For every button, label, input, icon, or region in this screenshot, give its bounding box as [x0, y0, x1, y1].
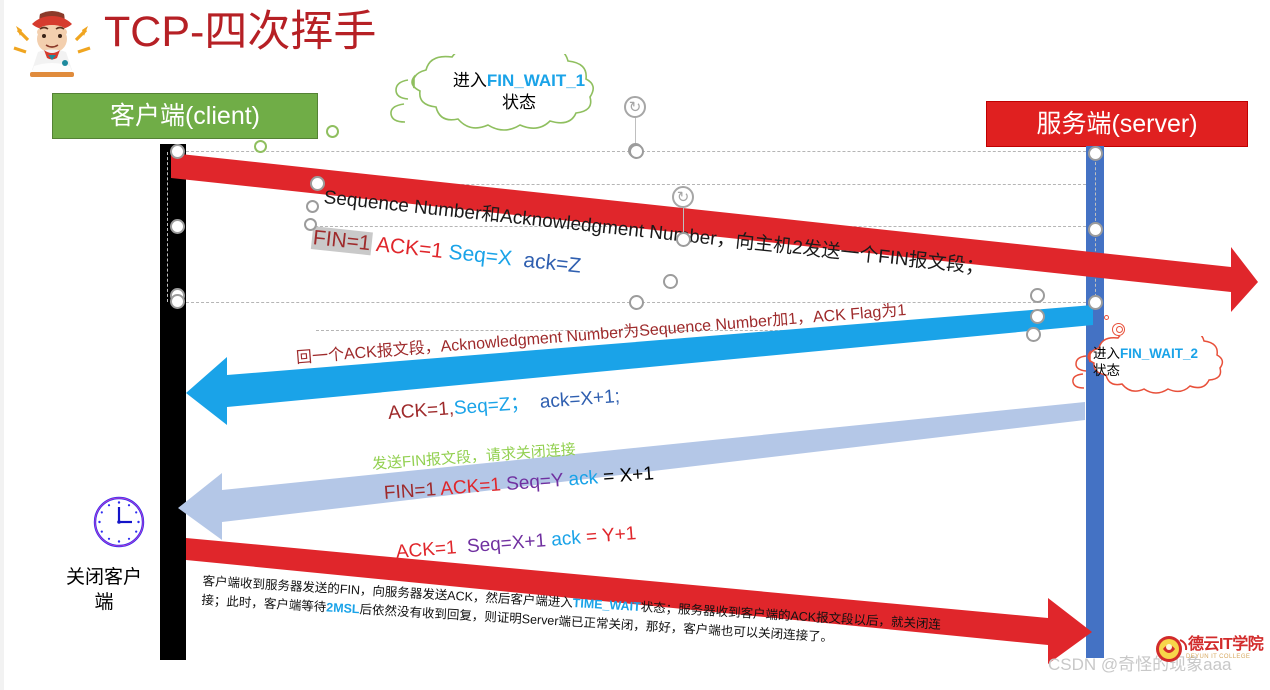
- selection-handle-guide-extra[interactable]: [663, 274, 678, 289]
- rotation-handle-msg1[interactable]: ↻: [672, 186, 694, 208]
- msg2-flag-acknum: ack=X+1;: [539, 386, 621, 413]
- msg4-flag-ack-key: ack: [550, 527, 581, 550]
- msg4-paragraph-state-2msl: 2MSL: [326, 600, 360, 616]
- brand-logo-text: 德云IT学院: [1188, 636, 1263, 654]
- selection-handle-client-top[interactable]: [170, 144, 185, 159]
- msg3-flag-seq: Seq=Y: [505, 470, 564, 495]
- selection-handle-msg1-mid[interactable]: [306, 200, 319, 213]
- clock-icon: [92, 495, 146, 549]
- selection-handle-msg1-anchor[interactable]: [676, 232, 691, 247]
- msg1-flag-acknum: ack=Z: [522, 249, 582, 278]
- brand-logo-subtext: DEYUN IT COLLEGE: [1186, 653, 1250, 661]
- selection-handle-server-mid[interactable]: [1088, 295, 1103, 310]
- selection-handle-cloud2-a[interactable]: [1104, 315, 1109, 320]
- cloud-fin-wait-2-text: 进入FIN_WAIT_2 状态: [1093, 345, 1198, 379]
- selection-handle-client-mid2[interactable]: [170, 294, 185, 309]
- msg3-flag-ack-val: = X+1: [603, 463, 655, 488]
- selection-handle-msg1-top[interactable]: [310, 176, 325, 191]
- slide-canvas: TCP-四次挥手 客户端(client) 服务端(server): [0, 0, 1270, 690]
- cloud-fin-wait-1-text: 进入FIN_WAIT_1 状态: [424, 70, 614, 114]
- msg3-flag-fin: FIN=1: [383, 479, 437, 504]
- cloud-1-suffix: 状态: [502, 93, 536, 112]
- selection-handle-msg1-bottom[interactable]: [304, 218, 317, 231]
- cloud-2-suffix: 状态: [1093, 363, 1120, 378]
- msg2-flag-seq: Seq=Z；: [453, 393, 530, 419]
- rotation-handle-cloud1-stem: [635, 118, 636, 146]
- selection-handle-client-header-right[interactable]: [326, 125, 339, 138]
- msg1-flag-fin: FIN=1: [311, 226, 373, 255]
- selection-handle-msg2-bottom[interactable]: [1026, 327, 1041, 342]
- msg4-flag-ack: ACK=1: [395, 537, 457, 563]
- selection-handle-client-center[interactable]: [170, 219, 185, 234]
- cloud-1-prefix: 进入: [453, 71, 487, 90]
- msg2-flag-ack: ACK=1,: [387, 398, 454, 424]
- msg4-flag-ack-val: = Y+1: [585, 523, 637, 548]
- msg3-flag-ack: ACK=1: [440, 474, 502, 499]
- selection-handle-client-header-bottom[interactable]: [254, 140, 267, 153]
- msg4-paragraph-state-time-wait: TIME_WAIT: [572, 596, 641, 614]
- selection-handle-cloud2-d[interactable]: [1112, 323, 1125, 336]
- rotation-handle-cloud1[interactable]: ↻: [624, 96, 646, 118]
- msg3-flag-ack-key: ack: [568, 467, 599, 490]
- selection-handle-msg2-mid[interactable]: [1030, 309, 1045, 324]
- client-close-label: 关闭客户端: [62, 565, 146, 615]
- selection-handle-server-top[interactable]: [1088, 146, 1103, 161]
- selection-handle-guide-top-mid[interactable]: [629, 144, 644, 159]
- selection-handle-guide-mid-mid[interactable]: [629, 295, 644, 310]
- selection-handle-server-center[interactable]: [1088, 222, 1103, 237]
- cloud-2-state: FIN_WAIT_2: [1120, 346, 1198, 361]
- selection-handle-msg2-top[interactable]: [1030, 288, 1045, 303]
- cloud-2-prefix: 进入: [1093, 346, 1120, 361]
- cloud-1-state: FIN_WAIT_1: [487, 71, 585, 90]
